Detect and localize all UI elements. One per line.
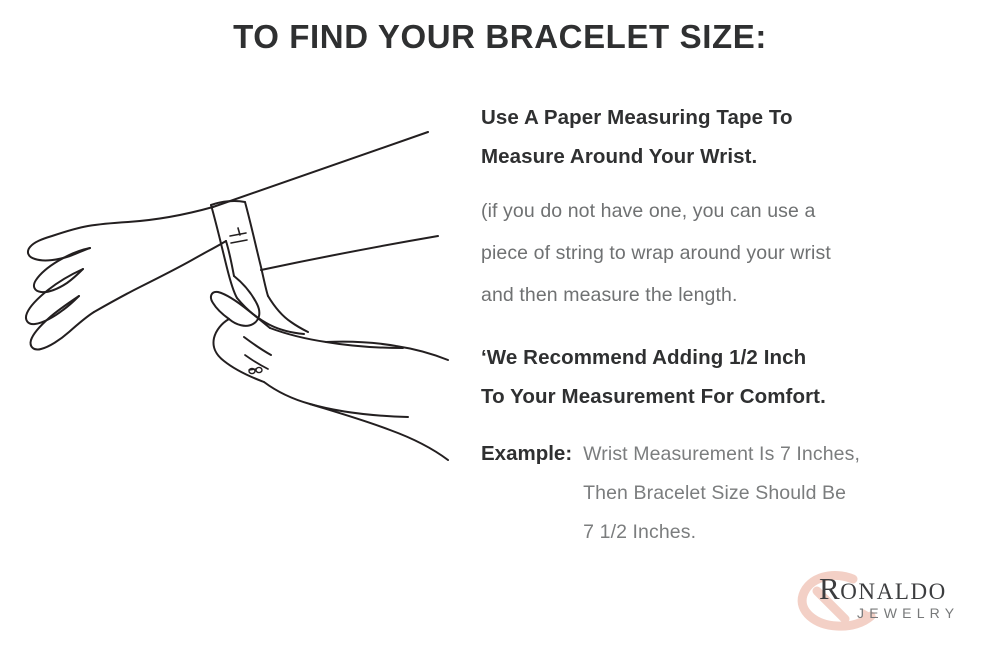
recommend-line-1: ‘We Recommend Adding 1/2 Inch (481, 338, 986, 377)
brand-name-rest: ONALDO (840, 579, 947, 604)
note-line-1: (if you do not have one, you can use a (481, 190, 986, 232)
intro-block: Use A Paper Measuring Tape To Measure Ar… (481, 98, 986, 176)
example-line-2: Then Bracelet Size Should Be (583, 474, 860, 513)
note-line-3: and then measure the length. (481, 274, 986, 316)
example-block: Example: Wrist Measurement Is 7 Inches, … (481, 434, 986, 552)
recommend-line-2: To Your Measurement For Comfort. (481, 377, 986, 416)
example-line-1: Wrist Measurement Is 7 Inches, (583, 435, 860, 474)
brand-subtitle: JEWELRY (857, 605, 959, 621)
page-title: TO FIND YOUR BRACELET SIZE: (0, 18, 1000, 56)
example-label: Example: (481, 434, 572, 473)
intro-line-2: Measure Around Your Wrist. (481, 137, 986, 176)
recommendation-block: ‘We Recommend Adding 1/2 Inch To Your Me… (481, 338, 986, 416)
example-line-3: 7 1/2 Inches. (583, 513, 860, 552)
note-block: (if you do not have one, you can use a p… (481, 190, 986, 316)
bracelet-size-guide-page: TO FIND YOUR BRACELET SIZE: (0, 0, 1000, 670)
example-row: Example: Wrist Measurement Is 7 Inches, … (481, 434, 986, 552)
instructions-column: Use A Paper Measuring Tape To Measure Ar… (481, 98, 986, 552)
note-line-2: piece of string to wrap around your wris… (481, 232, 986, 274)
intro-line-1: Use A Paper Measuring Tape To (481, 98, 986, 137)
brand-logo: RONALDO JEWELRY (793, 565, 993, 637)
brand-initial: R (819, 571, 840, 606)
example-lines: Wrist Measurement Is 7 Inches, Then Brac… (583, 435, 860, 552)
wrist-measuring-illustration (8, 108, 478, 468)
brand-wordmark: RONALDO (819, 571, 947, 607)
